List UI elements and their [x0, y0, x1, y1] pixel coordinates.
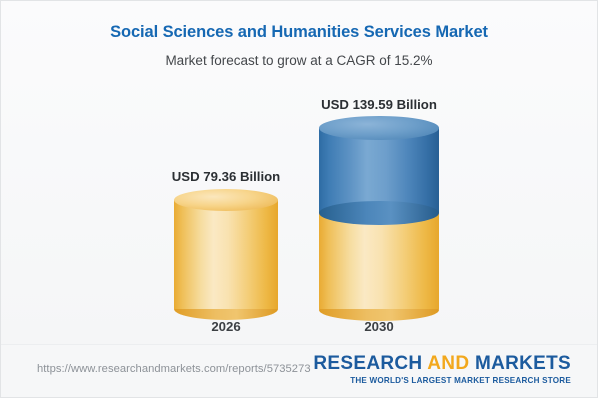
cylinder-blue-top-cap-2030 — [319, 116, 439, 140]
cylinder-body-2026 — [174, 200, 278, 309]
chart-card: Social Sciences and Humanities Services … — [0, 0, 598, 398]
logo-word-markets: MARKETS — [475, 353, 571, 374]
bar-cylinder-2026[interactable] — [174, 200, 278, 309]
source-url-link[interactable]: https://www.researchandmarkets.com/repor… — [37, 363, 311, 375]
research-and-markets-logo[interactable]: RESEARCH AND MARKETS THE WORLD'S LARGEST… — [313, 353, 571, 385]
bar-value-label-2026: USD 79.36 Billion — [116, 169, 336, 184]
footer: https://www.researchandmarkets.com/repor… — [1, 344, 597, 397]
logo-tagline: THE WORLD'S LARGEST MARKET RESEARCH STOR… — [313, 376, 571, 385]
plot-area: USD 79.36 Billion 2026 USD 139.59 Billio… — [1, 1, 598, 349]
cylinder-top-cap-2026 — [174, 189, 278, 211]
logo-word-research: RESEARCH — [313, 353, 422, 374]
bar-segment-yellow-2026 — [174, 200, 278, 309]
cylinder-blue-bottom-cap-2030 — [319, 201, 439, 225]
bar-cylinder-2030[interactable] — [319, 128, 439, 309]
bar-value-label-2030: USD 139.59 Billion — [269, 97, 489, 112]
logo-word-and: AND — [427, 353, 469, 374]
category-label-2030: 2030 — [269, 319, 489, 334]
bar-segment-blue-2030 — [319, 128, 439, 213]
logo-wordmark: RESEARCH AND MARKETS — [313, 353, 571, 375]
